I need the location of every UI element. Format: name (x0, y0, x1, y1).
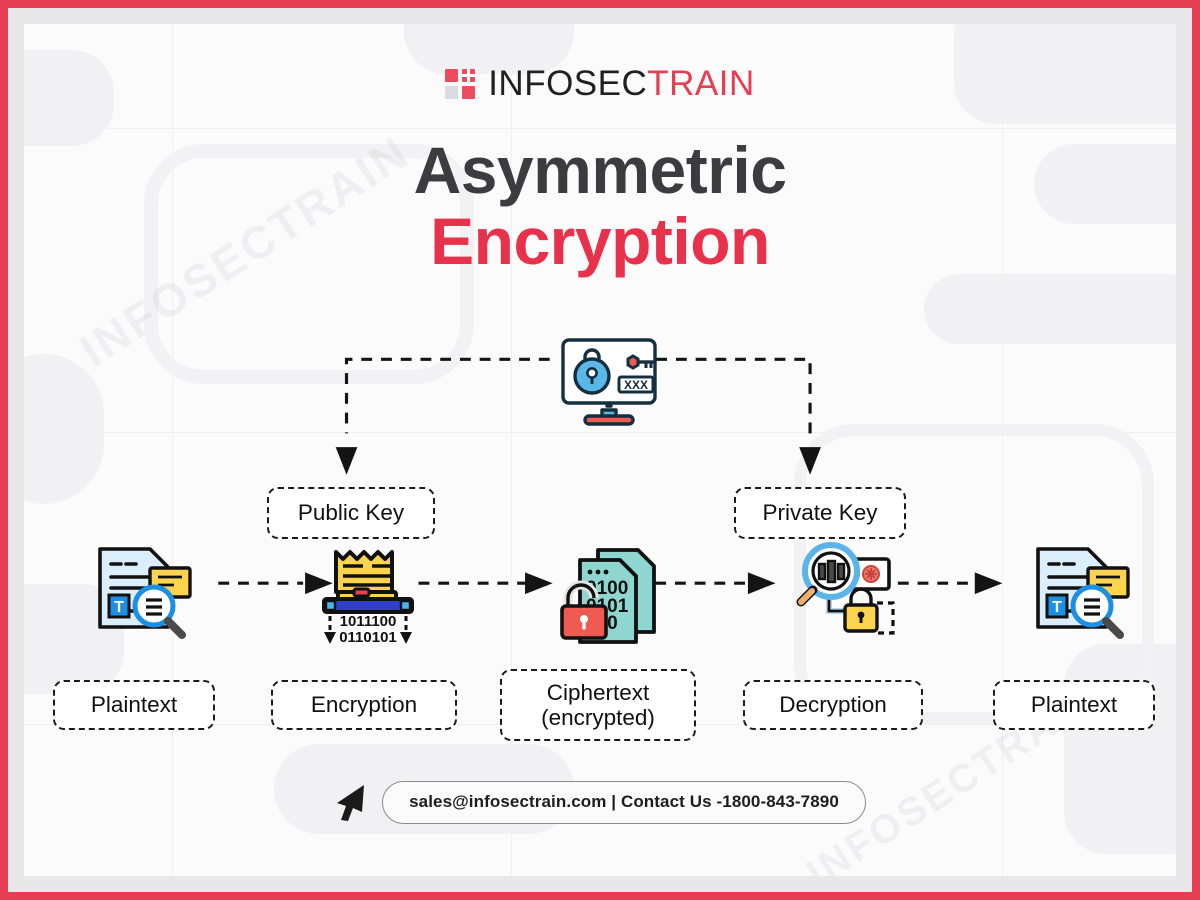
label-ciphertext-line2: (encrypted) (541, 705, 655, 730)
document-text-magnifier-icon: T (84, 537, 200, 645)
svg-text:T: T (114, 599, 124, 616)
monitor-lock-key-icon: XXX (549, 328, 669, 432)
shredder-binary-icon: 1011100 0110101 (314, 542, 422, 648)
mouse-cursor-arrow-icon (334, 783, 368, 823)
svg-text:T: T (1052, 599, 1062, 616)
label-public-key: Public Key (267, 487, 435, 539)
flow-connectors (24, 24, 1176, 876)
poster-canvas: INFOSECTRAIN INFOSECTRAIN INFOSECTRAIN A… (24, 24, 1176, 876)
label-encryption: Encryption (271, 680, 457, 730)
label-private-key: Private Key (734, 487, 906, 539)
contact-info: sales@infosectrain.com | Contact Us -180… (382, 781, 866, 824)
label-plaintext-right: Plaintext (993, 680, 1155, 730)
magnifier (801, 545, 857, 602)
binary-document-unlocked-padlock-icon: 0100 0101 100 (554, 536, 674, 648)
label-ciphertext: Ciphertext (encrypted) (500, 669, 696, 741)
svg-text:XXX: XXX (624, 378, 648, 392)
magnifier-password-padlock-icon (789, 539, 907, 647)
label-plaintext-left: Plaintext (53, 680, 215, 730)
label-decryption: Decryption (743, 680, 923, 730)
footer-contact-bar: sales@infosectrain.com | Contact Us -180… (24, 781, 1176, 824)
poster-gray-mat: INFOSECTRAIN INFOSECTRAIN INFOSECTRAIN A… (8, 8, 1192, 892)
svg-text:1011100: 1011100 (340, 613, 397, 630)
label-ciphertext-line1: Ciphertext (547, 680, 650, 705)
asymmetric-encryption-diagram: XXX Public Key Private Key (24, 24, 1176, 876)
svg-text:0110101: 0110101 (339, 629, 397, 646)
poster-red-frame: INFOSECTRAIN INFOSECTRAIN INFOSECTRAIN A… (0, 0, 1200, 900)
document-text-magnifier-icon: T (1022, 537, 1138, 645)
password-field: XXX (619, 377, 653, 392)
yellow-padlock (845, 589, 877, 631)
